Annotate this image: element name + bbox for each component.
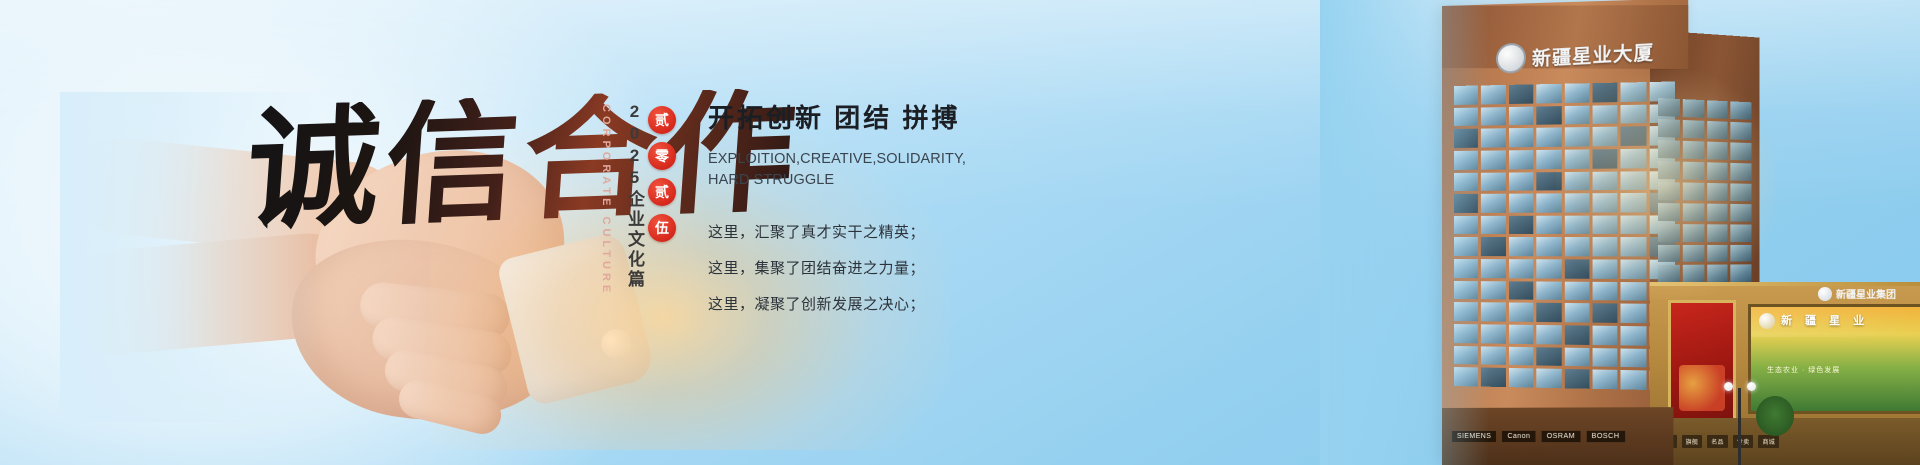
slogan-text-block: 开拓创新 团结 拼搏 EXPLOITION,CREATIVE,SOLIDARIT… [708, 104, 1038, 333]
shop-sign: 商城 [1758, 435, 1779, 448]
body-text-lines: 这里，汇聚了真才实干之精英； 这里，集聚了团结奋进之力量； 这里，凝聚了创新发展… [708, 225, 1038, 312]
brand-sign: Canon [1502, 431, 1535, 442]
brand-sign: OSRAM [1542, 431, 1581, 442]
lamp-bulb [1724, 382, 1733, 391]
slogan-english: EXPLOITION,CREATIVE,SOLIDARITY, HARD STR… [708, 149, 1038, 191]
body-line-3: 这里，凝聚了创新发展之决心； [708, 297, 1038, 312]
corporate-culture-en-label: CORPORATE CULTURE [600, 104, 612, 296]
plaza-logo-icon [1818, 287, 1832, 301]
lamp-bulb [1747, 382, 1756, 391]
seal-digit-3: 贰 [648, 178, 676, 206]
body-line-2: 这里，集聚了团结奋进之力量； [708, 261, 1038, 276]
slogan-english-line2: HARD STRUGGLE [708, 170, 1038, 191]
company-culture-banner: 诚信合作 CORPORATE CULTURE 2025企业文化篇 贰 零 贰 伍… [0, 0, 1920, 465]
company-logo-icon [1496, 42, 1526, 74]
street-tree [1756, 396, 1794, 436]
office-building-photo: 新疆星业大厦 新疆星业集团 新 疆 星 业 生态农业 · 绿色发展 精品 旗舰 … [1320, 0, 1920, 465]
main-slogan: 开拓创新 团结 拼搏 [708, 104, 1038, 133]
slogan-english-line1: EXPLOITION,CREATIVE,SOLIDARITY, [708, 149, 1038, 170]
shop-sign: 名品 [1707, 435, 1728, 448]
building-left-fade [1320, 0, 1490, 465]
street-lamp-post [1738, 388, 1741, 465]
year-seal-stack: 贰 零 贰 伍 [648, 106, 676, 250]
body-line-1: 这里，汇聚了真才实干之精英； [708, 225, 1038, 240]
seal-digit-4: 伍 [648, 214, 676, 242]
seal-digit-1: 贰 [648, 106, 676, 134]
brand-sign: BOSCH [1586, 431, 1624, 442]
led-logo-icon [1759, 313, 1775, 329]
red-billboard [1668, 300, 1736, 424]
led-screen-subtitle: 生态农业 · 绿色发展 [1767, 365, 1840, 375]
corporate-culture-cn-label: 2025企业文化篇 [622, 102, 647, 290]
street-lamp-head [1724, 382, 1756, 394]
plaza-logo-group: 新疆星业集团 [1818, 286, 1896, 301]
plaza-logo-text: 新疆星业集团 [1836, 286, 1896, 301]
led-screen-title: 新 疆 星 业 [1781, 312, 1869, 328]
tower-sign-text: 新疆星业大厦 [1532, 37, 1654, 71]
shop-sign: 旗舰 [1682, 435, 1703, 448]
shop-sign: 专卖 [1733, 435, 1754, 448]
seal-digit-2: 零 [648, 142, 676, 170]
